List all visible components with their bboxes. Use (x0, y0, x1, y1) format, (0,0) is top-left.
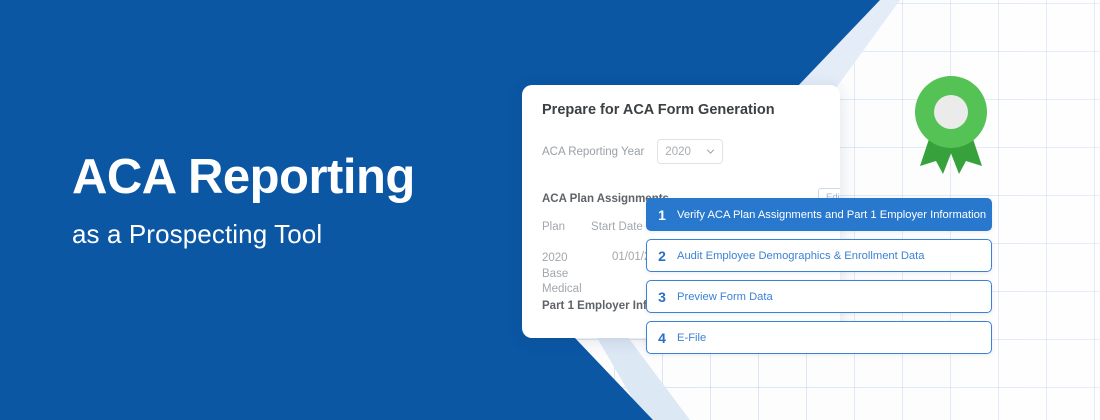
step-number: 2 (647, 248, 677, 264)
chevron-down-icon (706, 147, 715, 156)
step-number: 3 (647, 289, 677, 305)
page-subtitle: as a Prospecting Tool (72, 219, 502, 250)
step-number: 4 (647, 330, 677, 346)
reporting-year-field: ACA Reporting Year 2020 (542, 139, 723, 164)
step-item-4[interactable]: 4 E-File (646, 321, 992, 354)
step-item-3[interactable]: 3 Preview Form Data (646, 280, 992, 313)
reporting-year-label: ACA Reporting Year (542, 146, 644, 158)
column-header-plan: Plan (542, 221, 565, 233)
step-number: 1 (647, 207, 677, 223)
step-item-2[interactable]: 2 Audit Employee Demographics & Enrollme… (646, 239, 992, 272)
plan-table-header: Plan Start Date (542, 221, 643, 233)
card-title: Prepare for ACA Form Generation (542, 102, 775, 118)
hero-text-block: ACA Reporting as a Prospecting Tool (72, 152, 502, 250)
step-label: Audit Employee Demographics & Enrollment… (677, 250, 925, 262)
step-label: E-File (677, 332, 706, 344)
step-item-1[interactable]: 1 Verify ACA Plan Assignments and Part 1… (646, 198, 992, 231)
workflow-steps-list: 1 Verify ACA Plan Assignments and Part 1… (646, 198, 992, 362)
column-header-start-date: Start Date (591, 221, 643, 233)
award-ribbon-icon (912, 68, 990, 176)
reporting-year-select[interactable]: 2020 (657, 139, 723, 164)
cell-plan-name: 2020 Base Medical (542, 251, 596, 298)
page-title: ACA Reporting (72, 152, 502, 203)
reporting-year-value: 2020 (665, 146, 691, 158)
step-label: Preview Form Data (677, 291, 773, 303)
step-label: Verify ACA Plan Assignments and Part 1 E… (677, 209, 986, 221)
hero-banner: ACA Reporting as a Prospecting Tool Prep… (0, 0, 1100, 420)
